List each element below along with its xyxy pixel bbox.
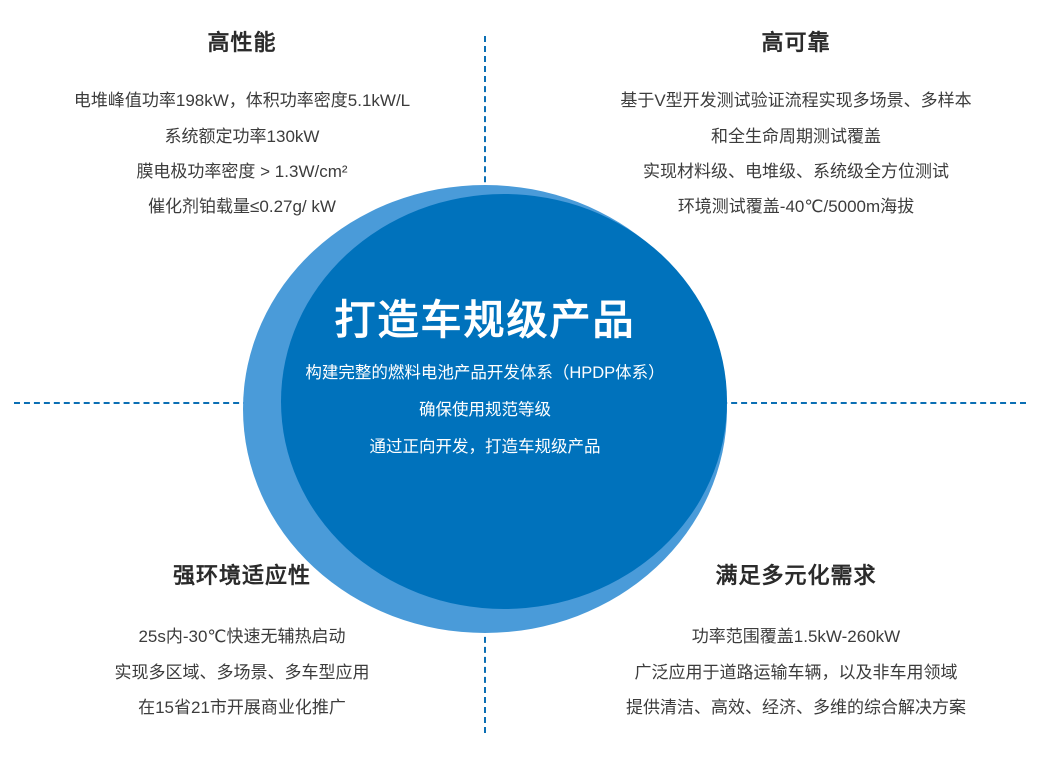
- quadrant-heading: 满足多元化需求: [554, 563, 1038, 589]
- center-line: 通过正向开发，打造车规级产品: [243, 438, 727, 458]
- quadrant-line: 实现多区域、多场景、多车型应用: [0, 662, 484, 683]
- quadrant-bottom-left: 强环境适应性 25s内-30℃快速无辅热启动 实现多区域、多场景、多车型应用 在…: [0, 563, 484, 718]
- quadrant-line: 提供清洁、高效、经济、多维的综合解决方案: [554, 697, 1038, 718]
- quadrant-line: 和全生命周期测试覆盖: [554, 126, 1038, 147]
- center-line: 确保使用规范等级: [243, 401, 727, 421]
- quadrant-line: 电堆峰值功率198kW，体积功率密度5.1kW/L: [0, 90, 484, 111]
- center-title: 打造车规级产品: [335, 297, 636, 344]
- quadrant-bottom-right: 满足多元化需求 功率范围覆盖1.5kW-260kW 广泛应用于道路运输车辆，以及…: [554, 563, 1038, 718]
- quadrant-diagram: 打造车规级产品 构建完整的燃料电池产品开发体系（HPDP体系） 确保使用规范等级…: [0, 0, 1038, 769]
- quadrant-line: 基于V型开发测试验证流程实现多场景、多样本: [554, 90, 1038, 111]
- quadrant-line: 功率范围覆盖1.5kW-260kW: [554, 626, 1038, 647]
- quadrant-line: 膜电极功率密度 > 1.3W/cm²: [0, 161, 484, 182]
- center-line: 构建完整的燃料电池产品开发体系（HPDP体系）: [243, 364, 727, 384]
- quadrant-lines: 25s内-30℃快速无辅热启动 实现多区域、多场景、多车型应用 在15省21市开…: [0, 626, 484, 718]
- quadrant-lines: 基于V型开发测试验证流程实现多场景、多样本 和全生命周期测试覆盖 实现材料级、电…: [554, 90, 1038, 217]
- quadrant-heading: 强环境适应性: [0, 563, 484, 589]
- quadrant-lines: 功率范围覆盖1.5kW-260kW 广泛应用于道路运输车辆，以及非车用领域 提供…: [554, 626, 1038, 718]
- quadrant-line: 实现材料级、电堆级、系统级全方位测试: [554, 161, 1038, 182]
- quadrant-top-right: 高可靠 基于V型开发测试验证流程实现多场景、多样本 和全生命周期测试覆盖 实现材…: [554, 30, 1038, 217]
- quadrant-line: 系统额定功率130kW: [0, 126, 484, 147]
- quadrant-line: 环境测试覆盖-40℃/5000m海拔: [554, 196, 1038, 217]
- quadrant-top-left: 高性能 电堆峰值功率198kW，体积功率密度5.1kW/L 系统额定功率130k…: [0, 30, 484, 217]
- quadrant-line: 在15省21市开展商业化推广: [0, 697, 484, 718]
- quadrant-heading: 高性能: [0, 30, 484, 56]
- center-lines: 构建完整的燃料电池产品开发体系（HPDP体系） 确保使用规范等级 通过正向开发，…: [243, 364, 727, 457]
- quadrant-heading: 高可靠: [554, 30, 1038, 56]
- quadrant-line: 25s内-30℃快速无辅热启动: [0, 626, 484, 647]
- quadrant-lines: 电堆峰值功率198kW，体积功率密度5.1kW/L 系统额定功率130kW 膜电…: [0, 90, 484, 217]
- quadrant-line: 催化剂铂载量≤0.27g/ kW: [0, 196, 484, 217]
- quadrant-line: 广泛应用于道路运输车辆，以及非车用领域: [554, 662, 1038, 683]
